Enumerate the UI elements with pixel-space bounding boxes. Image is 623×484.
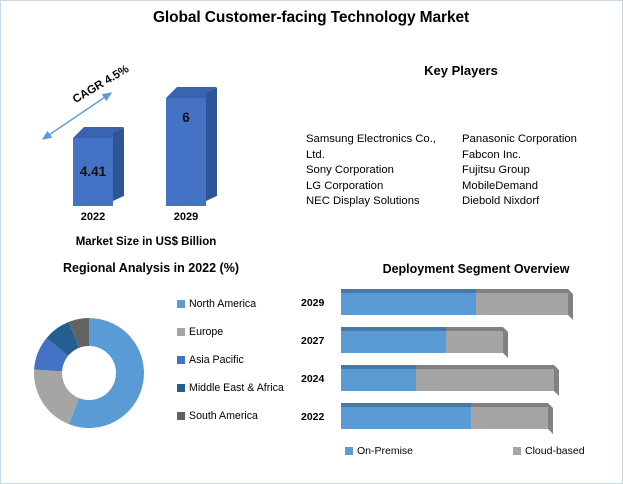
deployment-segment-title: Deployment Segment Overview xyxy=(331,262,621,276)
legend-label: Asia Pacific xyxy=(189,354,244,367)
deployment-bar-row: 2029 xyxy=(301,289,621,319)
segment-front-face xyxy=(471,407,548,429)
deployment-segment-chart: 2029202720242022 xyxy=(301,289,621,439)
legend-item-north-america: North America xyxy=(177,298,289,311)
key-player-item: Samsung Electronics Co., Ltd. xyxy=(306,132,450,163)
donut-svg xyxy=(26,306,156,441)
key-player-item: Panasonic Corporation xyxy=(462,132,606,148)
legend-swatch-icon xyxy=(177,384,185,392)
donut-hole xyxy=(62,346,116,400)
bar-2029: 6 xyxy=(166,98,206,206)
segment-end-cap xyxy=(548,403,553,434)
legend-label: On-Premise xyxy=(357,445,413,457)
deployment-bar-segment-on-premise xyxy=(341,369,416,391)
deployment-bar-segment-cloud-based xyxy=(471,407,548,429)
bar-2029-value: 6 xyxy=(166,110,206,125)
deployment-year-label: 2022 xyxy=(301,411,335,423)
legend-item-south-america: South America xyxy=(177,410,289,423)
legend-label: South America xyxy=(189,410,258,423)
key-player-item: Sony Corporation xyxy=(306,163,450,179)
legend-item-asia-pacific: Asia Pacific xyxy=(177,354,289,367)
key-players-list: Samsung Electronics Co., Ltd. Sony Corpo… xyxy=(306,132,606,210)
deployment-bar-row: 2022 xyxy=(301,403,621,433)
bar-2029-category: 2029 xyxy=(156,211,216,223)
key-player-item: LG Corporation xyxy=(306,179,450,195)
bar-2022-category: 2022 xyxy=(63,211,123,223)
legend-swatch-icon xyxy=(177,412,185,420)
segment-end-cap xyxy=(554,365,559,396)
deployment-year-label: 2024 xyxy=(301,373,335,385)
segment-front-face xyxy=(341,369,416,391)
regional-legend: North America Europe Asia Pacific Middle… xyxy=(177,298,289,423)
legend-swatch-icon xyxy=(345,447,353,455)
segment-front-face xyxy=(446,331,503,353)
bar-2022-value: 4.41 xyxy=(73,164,113,179)
legend-swatch-icon xyxy=(177,300,185,308)
segment-end-cap xyxy=(568,289,573,320)
legend-item-middle-east-africa: Middle East & Africa xyxy=(177,382,289,395)
key-players-heading: Key Players xyxy=(341,63,581,78)
key-players-right-column: Panasonic Corporation Fabcon Inc. Fujits… xyxy=(462,132,606,210)
legend-swatch-icon xyxy=(177,328,185,336)
key-player-item: NEC Display Solutions xyxy=(306,194,450,210)
key-player-item: Fabcon Inc. xyxy=(462,148,606,164)
deployment-year-label: 2029 xyxy=(301,297,335,309)
segment-front-face xyxy=(341,407,471,429)
bar-2029-side-face xyxy=(206,88,217,201)
regional-analysis-title: Regional Analysis in 2022 (%) xyxy=(21,261,281,275)
legend-item-on-premise: On-Premise xyxy=(345,445,413,457)
segment-front-face xyxy=(476,293,568,315)
segment-front-face xyxy=(416,369,554,391)
cagr-arrow xyxy=(1,71,301,256)
legend-item-cloud-based: Cloud-based xyxy=(513,445,585,457)
legend-swatch-icon xyxy=(513,447,521,455)
legend-label: Cloud-based xyxy=(525,445,585,457)
market-size-growth-chart: CAGR 4.5% 4.41 2022 6 2029 Market Size i… xyxy=(1,71,301,256)
bar-2022-side-face xyxy=(113,128,124,201)
deployment-bar-segment-cloud-based xyxy=(416,369,554,391)
page-title: Global Customer-facing Technology Market xyxy=(111,7,511,28)
deployment-legend: On-Premise Cloud-based xyxy=(301,445,601,457)
segment-end-cap xyxy=(503,327,508,358)
deployment-bar-segment-cloud-based xyxy=(476,293,568,315)
segment-front-face xyxy=(341,331,446,353)
legend-label: North America xyxy=(189,298,256,311)
deployment-bar-segment-on-premise xyxy=(341,407,471,429)
deployment-bar-segment-cloud-based xyxy=(446,331,503,353)
deployment-bar-segment-on-premise xyxy=(341,293,476,315)
deployment-bar-segment-on-premise xyxy=(341,331,446,353)
deployment-bar-row: 2024 xyxy=(301,365,621,395)
legend-label: Middle East & Africa xyxy=(189,382,284,395)
deployment-bar-row: 2027 xyxy=(301,327,621,357)
bar-2022: 4.41 xyxy=(73,138,113,206)
infographic-page: Global Customer-facing Technology Market… xyxy=(0,0,623,484)
key-player-item: Fujitsu Group xyxy=(462,163,606,179)
legend-swatch-icon xyxy=(177,356,185,364)
key-player-item: Diebold Nixdorf xyxy=(462,194,606,210)
key-player-item: MobileDemand xyxy=(462,179,606,195)
deployment-year-label: 2027 xyxy=(301,335,335,347)
legend-item-europe: Europe xyxy=(177,326,289,339)
key-players-left-column: Samsung Electronics Co., Ltd. Sony Corpo… xyxy=(306,132,450,210)
regional-donut-chart xyxy=(26,306,156,441)
market-size-axis-caption: Market Size in US$ Billion xyxy=(21,236,271,248)
segment-front-face xyxy=(341,293,476,315)
legend-label: Europe xyxy=(189,326,223,339)
